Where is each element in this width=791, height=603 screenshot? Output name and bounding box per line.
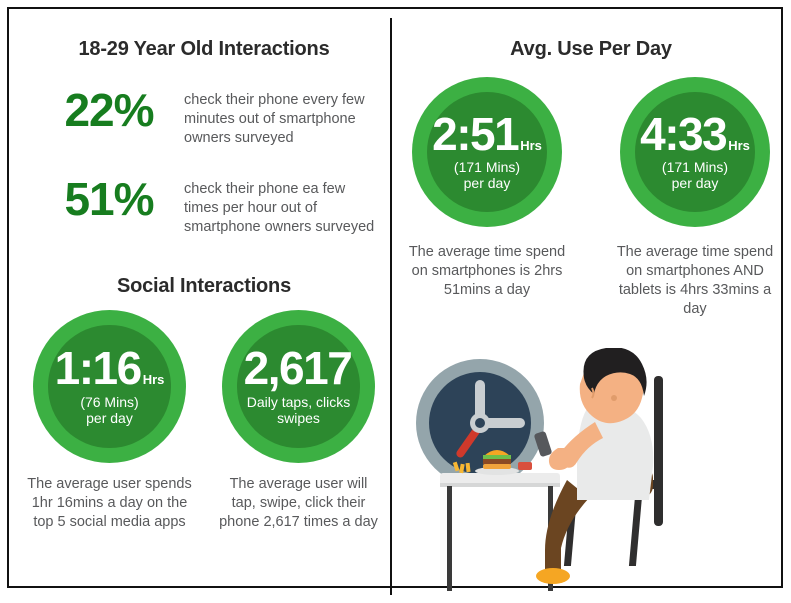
stat-circle: 2,617 Daily taps, clicks swipes <box>222 310 375 463</box>
stat-number: 2,617 <box>244 347 352 391</box>
infographic-poster: 18-29 Year Old Interactions 22% check th… <box>0 0 791 597</box>
stat-caption: The average time spend on smartphones AN… <box>609 243 781 319</box>
stat-unit: Hrs <box>143 374 165 386</box>
social-stat-card: 1:16 Hrs (76 Mins) per day The average u… <box>27 310 192 532</box>
right-panel-title: Avg. Use Per Day <box>392 38 790 61</box>
social-stat-card: 2,617 Daily taps, clicks swipes The aver… <box>216 310 381 532</box>
stat-circle-inner: 4:33 Hrs (171 Mins) per day <box>635 92 755 212</box>
social-interactions-title: Social Interactions <box>18 275 390 298</box>
stat-primary-line: 2,617 <box>244 347 354 391</box>
stat-number: 4:33 <box>640 113 726 157</box>
right-panel: Avg. Use Per Day 2:51 Hrs (171 Mins) per… <box>392 18 790 595</box>
stat-circle-inner: 2,617 Daily taps, clicks swipes <box>237 325 359 447</box>
stat-primary-line: 4:33 Hrs <box>640 113 750 157</box>
stat-number: 1:16 <box>55 347 141 391</box>
poster-frame: 18-29 Year Old Interactions 22% check th… <box>7 7 783 588</box>
percent-stat-row: 22% check their phone every few minutes … <box>18 87 390 148</box>
percent-value: 51% <box>34 176 184 222</box>
stat-caption: The average time spend on smartphones is… <box>401 243 573 300</box>
illustration-svg <box>392 348 790 598</box>
stat-sub-line-2: per day <box>86 410 133 426</box>
stat-sub-line-1: Daily taps, clicks <box>247 394 350 410</box>
left-panel-title: 18-29 Year Old Interactions <box>18 38 390 61</box>
stat-primary-line: 2:51 Hrs <box>432 113 542 157</box>
stat-sub-line-1: (171 Mins) <box>662 159 728 175</box>
stat-circle: 4:33 Hrs (171 Mins) per day <box>620 77 770 227</box>
stat-sub-line-1: (76 Mins) <box>80 394 138 410</box>
percent-description: check their phone ea few times per hour … <box>184 176 376 237</box>
stat-sub-line-2: swipes <box>277 410 320 426</box>
stat-circle-inner: 1:16 Hrs (76 Mins) per day <box>48 325 170 447</box>
stat-circle: 2:51 Hrs (171 Mins) per day <box>412 77 562 227</box>
stat-unit: Hrs <box>520 140 542 152</box>
left-panel: 18-29 Year Old Interactions 22% check th… <box>18 18 390 595</box>
usage-stats-row: 2:51 Hrs (171 Mins) per day The average … <box>392 77 790 319</box>
stat-caption: The average user will tap, swipe, click … <box>216 475 381 532</box>
percent-stat-row: 51% check their phone ea few times per h… <box>18 176 390 237</box>
stat-primary-line: 1:16 Hrs <box>55 347 165 391</box>
stat-caption: The average user spends 1hr 16mins a day… <box>27 475 192 532</box>
usage-stat-card: 2:51 Hrs (171 Mins) per day The average … <box>401 77 573 319</box>
social-stats-row: 1:16 Hrs (76 Mins) per day The average u… <box>18 310 390 532</box>
stat-circle-inner: 2:51 Hrs (171 Mins) per day <box>427 92 547 212</box>
stat-sub-line-2: per day <box>464 175 511 191</box>
stat-sub-line-1: (171 Mins) <box>454 159 520 175</box>
usage-stat-card: 4:33 Hrs (171 Mins) per day The average … <box>609 77 781 319</box>
illustration-area <box>392 348 790 598</box>
stat-sub-line-2: per day <box>672 175 719 191</box>
percent-value: 22% <box>34 87 184 133</box>
percent-description: check their phone every few minutes out … <box>184 87 376 148</box>
stat-circle: 1:16 Hrs (76 Mins) per day <box>33 310 186 463</box>
stat-unit: Hrs <box>728 140 750 152</box>
stat-number: 2:51 <box>432 113 518 157</box>
